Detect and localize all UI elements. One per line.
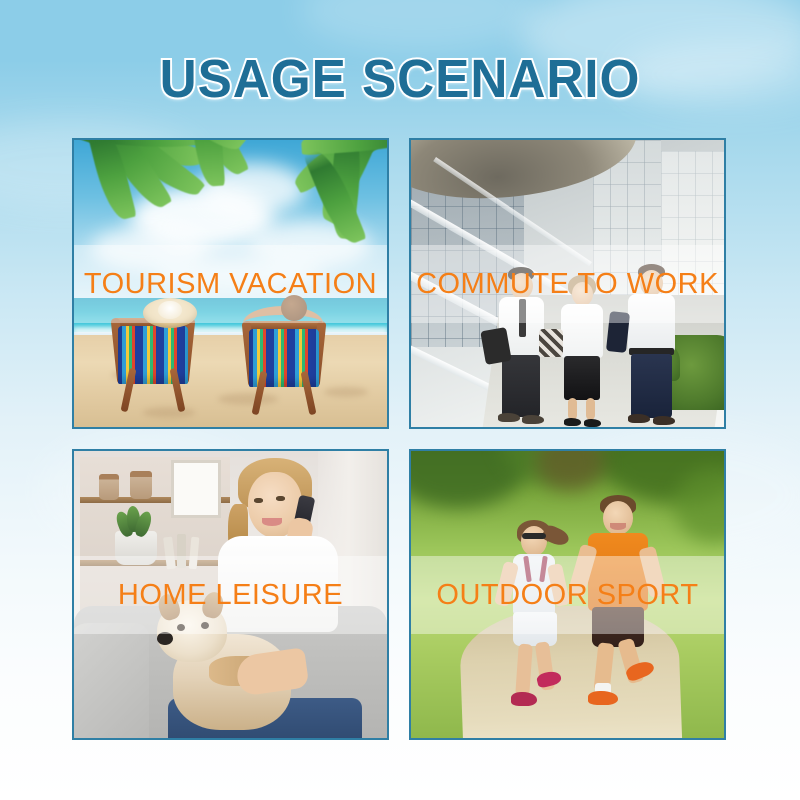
high-heel-shoe [564, 418, 581, 426]
leg [586, 398, 595, 420]
page-title: USAGE SCENARIO [20, 52, 780, 106]
shorts [592, 607, 644, 647]
shirt [628, 294, 675, 352]
shorts [513, 612, 557, 646]
book [177, 534, 186, 568]
runner-female [505, 520, 575, 710]
scenario-label-home-leisure: HOME LEISURE [74, 579, 387, 611]
sun-hat [143, 298, 197, 328]
storage-jar [130, 471, 152, 499]
scenario-panel-commute-to-work[interactable]: COMMUTE TO WORK [409, 138, 726, 429]
scenario-label-commute-to-work: COMMUTE TO WORK [411, 268, 724, 300]
usage-scenario-page: USAGE SCENARIO [0, 0, 800, 800]
running-shoe [588, 691, 618, 705]
trousers [631, 354, 672, 418]
scenario-grid: TOURISM VACATION [72, 138, 726, 740]
mouth [610, 523, 626, 530]
shoe [498, 413, 520, 422]
sofa-arm [74, 623, 149, 738]
blouse [561, 304, 603, 358]
trousers [502, 355, 540, 417]
leg [568, 398, 577, 420]
sand-texture [324, 387, 368, 397]
sand-texture [143, 407, 195, 418]
picture-frame [171, 460, 221, 518]
sunglasses [522, 533, 546, 539]
background-cloud [300, 0, 540, 50]
shoe [628, 414, 650, 423]
scenario-label-tourism-vacation: TOURISM VACATION [74, 268, 387, 300]
scenario-panel-home-leisure[interactable]: HOME LEISURE [72, 449, 389, 740]
handbag [539, 329, 563, 357]
person-businesswoman-center [555, 278, 609, 423]
scenario-label-outdoor-sport: OUTDOOR SPORT [411, 579, 724, 611]
high-heel-shoe [584, 419, 601, 427]
plant-pot [115, 531, 157, 565]
shelf-board [80, 560, 230, 566]
shoe [522, 415, 544, 424]
shoe [653, 416, 675, 425]
scenario-panel-tourism-vacation[interactable]: TOURISM VACATION [72, 138, 389, 429]
running-shoe [511, 692, 537, 706]
shoulder-bag [480, 327, 512, 365]
storage-jar [99, 474, 119, 500]
leg [515, 643, 533, 696]
sand-texture [218, 393, 278, 405]
necktie [519, 299, 526, 337]
leather-skirt [564, 356, 600, 400]
scenario-panel-outdoor-sport[interactable]: OUTDOOR SPORT [409, 449, 726, 740]
